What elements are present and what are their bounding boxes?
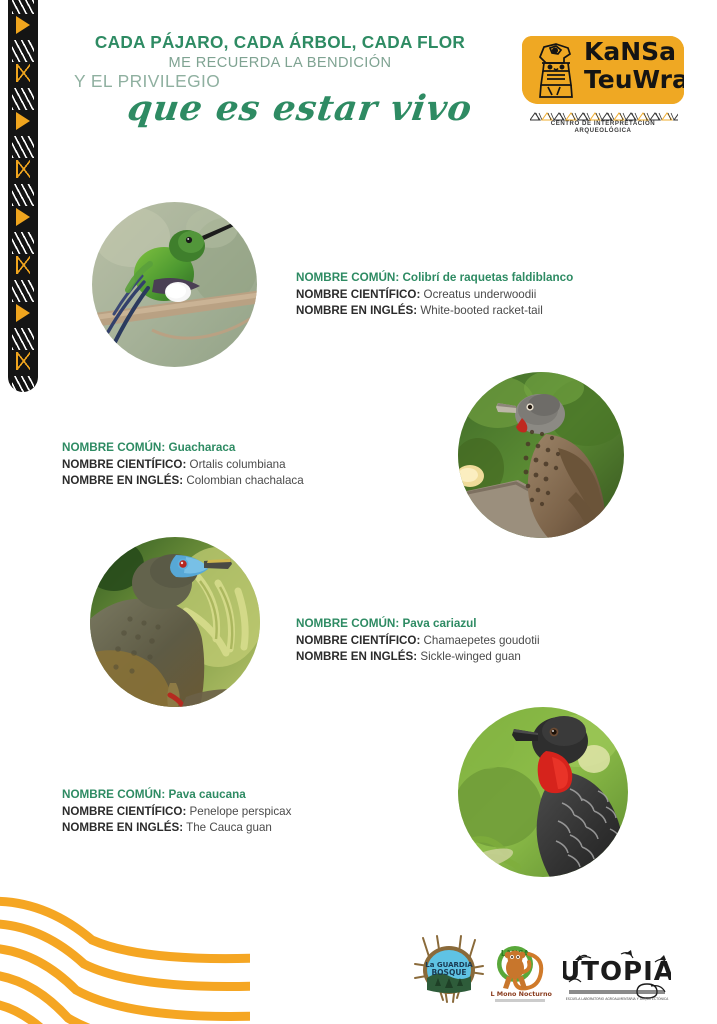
strip-triangle-filled	[16, 208, 30, 226]
logo-word-kansa: KaNSa	[584, 40, 684, 64]
bird-3-english-value: Sickle-winged guan	[420, 650, 521, 663]
strip-triangle-filled	[16, 112, 30, 130]
bird-1-english-line: NOMBRE EN INGLÉS: White-booted racket-ta…	[296, 303, 573, 319]
bird-2-common-value: Guacharaca	[168, 441, 235, 454]
bird-3-common-line: NOMBRE COMÚN: Pava cariazul	[296, 616, 540, 633]
bird-2-common-line: NOMBRE COMÚN: Guacharaca	[62, 440, 304, 457]
bird-1-common-value: Colibrí de raquetas faldiblanco	[402, 271, 573, 284]
label-english-1: NOMBRE EN INGLÉS:	[296, 304, 417, 317]
bird-1-common-line: NOMBRE COMÚN: Colibrí de raquetas faldib…	[296, 270, 573, 287]
mono-nocturno-logo-icon: LANCA EL Mono Nocturno	[491, 942, 555, 1004]
strip-hatch-marks	[12, 40, 34, 62]
bird-info-4: NOMBRE COMÚN: Pava caucana NOMBRE CIENTÍ…	[62, 787, 291, 837]
wave-lines-icon	[0, 880, 250, 1024]
footer-logo-utopia: UTOPIA ESCUELA LABORATORIO AGROALIMENTAR…	[563, 946, 671, 1002]
strip-triangle-outline	[16, 64, 30, 82]
strip-hatch-marks	[12, 0, 34, 14]
label-scientific-4: NOMBRE CIENTÍFICO:	[62, 805, 186, 818]
bird-3-scientific-line: NOMBRE CIENTÍFICO: Chamaepetes goudotii	[296, 633, 540, 649]
bird-2-scientific-value: Ortalis columbiana	[190, 458, 286, 471]
footer-logo-mono-nocturno: LANCA EL Mono Nocturno	[491, 942, 555, 1004]
strip-hatch-marks	[12, 184, 34, 206]
label-english-2: NOMBRE EN INGLÉS:	[62, 474, 183, 487]
bird-3-scientific-value: Chamaepetes goudotii	[424, 634, 540, 647]
strip-triangle-filled	[16, 304, 30, 322]
bird-info-3: NOMBRE COMÚN: Pava cariazul NOMBRE CIENT…	[296, 616, 540, 666]
label-english-4: NOMBRE EN INGLÉS:	[62, 821, 183, 834]
strip-pattern	[8, 0, 38, 392]
mono-nocturno-caption: EL Mono Nocturno	[491, 990, 553, 998]
footer-logo-guardia-bosque: La GUARDIA BOSQUE	[413, 934, 485, 1006]
bird-3-common-value: Pava cariazul	[402, 617, 476, 630]
bird-info-1: NOMBRE COMÚN: Colibrí de raquetas faldib…	[296, 270, 573, 320]
bird-2-english-value: Colombian chachalaca	[186, 474, 303, 487]
logo-shaman-figure-icon	[534, 41, 578, 99]
strip-hatch-marks	[12, 376, 34, 392]
logo-orange-badge: KaNSa TeuWra	[522, 36, 684, 104]
bird-1-scientific-value: Ocreatus underwoodii	[424, 288, 537, 301]
label-scientific-2: NOMBRE CIENTÍFICO:	[62, 458, 186, 471]
bird-4-common-value: Pava caucana	[168, 788, 245, 801]
label-common-1: NOMBRE COMÚN:	[296, 271, 399, 284]
bird-4-scientific-value: Penelope perspicax	[190, 805, 292, 818]
bird-1-scientific-line: NOMBRE CIENTÍFICO: Ocreatus underwoodii	[296, 287, 573, 303]
headline-line-1: CADA PÁJARO, CADA ÁRBOL, CADA FLOR	[60, 33, 500, 53]
strip-hatch-marks	[12, 88, 34, 110]
bird-4-common-line: NOMBRE COMÚN: Pava caucana	[62, 787, 291, 804]
bird-photo-2	[458, 372, 624, 538]
headline-block: CADA PÁJARO, CADA ÁRBOL, CADA FLOR ME RE…	[60, 33, 500, 92]
utopia-subtitle: ESCUELA LABORATORIO AGROALIMENTARIA Y AR…	[566, 996, 669, 1001]
orange-wave-decoration	[0, 880, 250, 1024]
cauca-guan-red-throat-image	[458, 707, 628, 877]
label-common-3: NOMBRE COMÚN:	[296, 617, 399, 630]
headline-line-2: ME RECUERDA LA BENDICIÓN	[60, 54, 500, 72]
blue-faced-guan-image	[90, 537, 260, 707]
strip-hatch-marks	[12, 136, 34, 158]
bird-2-scientific-line: NOMBRE CIENTÍFICO: Ortalis columbiana	[62, 457, 304, 473]
bird-photo-1	[92, 202, 257, 367]
label-english-3: NOMBRE EN INGLÉS:	[296, 650, 417, 663]
bird-3-english-line: NOMBRE EN INGLÉS: Sickle-winged guan	[296, 649, 540, 665]
strip-triangle-outline	[16, 352, 30, 370]
label-common-4: NOMBRE COMÚN:	[62, 788, 165, 801]
logo-word-teuwra: TeuWra	[584, 68, 684, 92]
footer-logos: La GUARDIA BOSQUE LANCA EL Mono Nocturn	[405, 934, 695, 1010]
label-common-2: NOMBRE COMÚN:	[62, 441, 165, 454]
strip-hatch-marks	[12, 280, 34, 302]
label-scientific-1: NOMBRE CIENTÍFICO:	[296, 288, 420, 301]
strip-hatch-marks	[12, 232, 34, 254]
green-hummingbird-on-branch-image	[92, 202, 257, 367]
bird-photo-3	[90, 537, 260, 707]
brown-chachalaca-on-log-image	[458, 372, 624, 538]
strip-triangle-outline	[16, 256, 30, 274]
headline-script-line: que es estar vivo	[107, 88, 493, 129]
logo-pattern-band	[530, 108, 678, 117]
strip-hatch-marks	[12, 328, 34, 350]
logo-wordmark: KaNSa TeuWra	[584, 40, 684, 92]
bird-4-english-value: The Cauca guan	[186, 821, 272, 834]
bird-2-english-line: NOMBRE EN INGLÉS: Colombian chachalaca	[62, 473, 304, 489]
guardia-bosque-logo-icon: La GUARDIA BOSQUE	[413, 934, 485, 1006]
logo-subtitle: CENTRO DE INTERPRETACIÓN ARQUEOLÓGICA	[522, 120, 684, 134]
bird-4-english-line: NOMBRE EN INGLÉS: The Cauca guan	[62, 820, 291, 836]
utopia-logo-icon: UTOPIA ESCUELA LABORATORIO AGROALIMENTAR…	[563, 946, 671, 1002]
bird-info-2: NOMBRE COMÚN: Guacharaca NOMBRE CIENTÍFI…	[62, 440, 304, 490]
bird-4-scientific-line: NOMBRE CIENTÍFICO: Penelope perspicax	[62, 804, 291, 820]
left-decorative-strip	[8, 0, 38, 392]
label-scientific-3: NOMBRE CIENTÍFICO:	[296, 634, 420, 647]
bird-photo-4	[458, 707, 628, 877]
kansa-teuwra-logo: KaNSa TeuWra CENTRO DE INTERPRETACIÓN AR…	[522, 36, 684, 104]
strip-triangle-filled	[16, 16, 30, 34]
bird-1-english-value: White-booted racket-tail	[420, 304, 542, 317]
strip-triangle-outline	[16, 160, 30, 178]
guardia-caption-bottom: BOSQUE	[431, 968, 466, 977]
poster-page: CADA PÁJARO, CADA ÁRBOL, CADA FLOR ME RE…	[0, 0, 717, 1024]
